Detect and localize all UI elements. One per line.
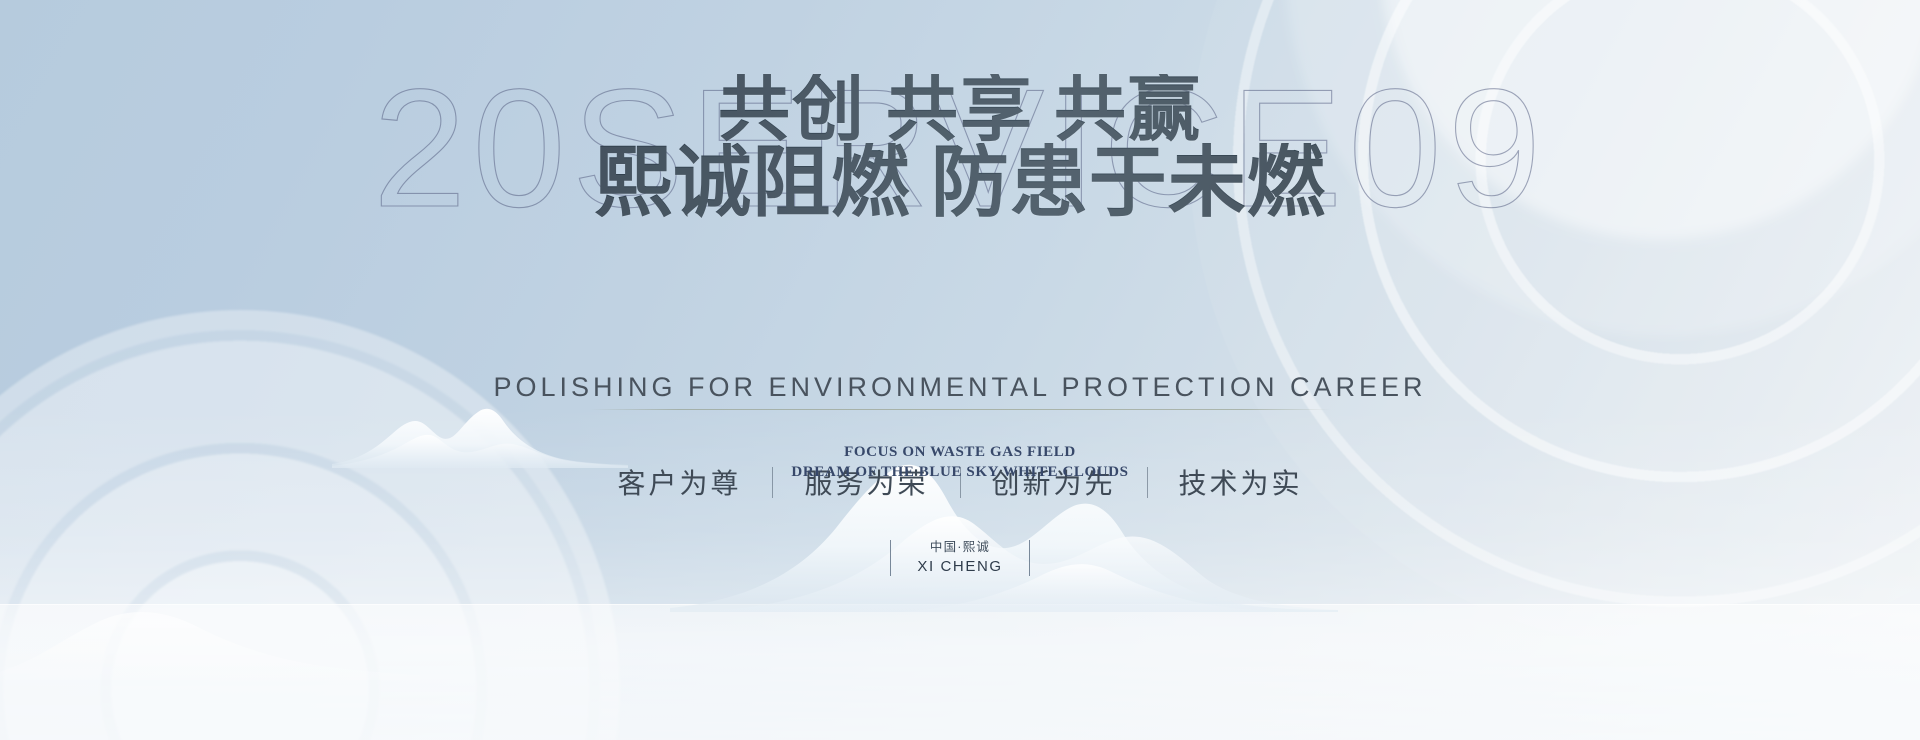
brand-name-en: XI CHENG — [917, 556, 1002, 578]
value-item-4: 技术为实 — [1148, 462, 1334, 502]
brand-divider-right — [1029, 540, 1030, 576]
horizon-band — [0, 605, 1920, 740]
value-list: 客户为尊 服务为荣 创新为先 技术为实 — [0, 462, 1920, 502]
brand-text: 中国·熙诚 XI CHENG — [917, 538, 1002, 578]
value-item-2: 服务为荣 — [773, 462, 959, 502]
tagline-underline — [589, 409, 1331, 410]
value-item-3: 创新为先 — [961, 462, 1147, 502]
headline-block: 共创 共享 共赢 熙诚阻燃 防患于未燃 — [0, 74, 1920, 223]
headline-line-1: 共创 共享 共赢 — [0, 74, 1920, 147]
mountain-silhouette-large-icon — [600, 432, 1340, 612]
value-item-1: 客户为尊 — [586, 462, 772, 502]
tagline-text: POLISHING FOR ENVIRONMENTAL PROTECTION C… — [0, 372, 1920, 403]
mountain-silhouette-small-icon — [330, 398, 630, 468]
brand-divider-left — [890, 540, 891, 576]
couplet-line-1: FOCUS ON WASTE GAS FIELD — [0, 442, 1920, 462]
hero-banner: 20SERVICE09 — [0, 0, 1920, 740]
brand-footer: 中国·熙诚 XI CHENG — [0, 538, 1920, 578]
brand-name-cn: 中国·熙诚 — [917, 538, 1002, 556]
headline-line-2: 熙诚阻燃 防患于未燃 — [0, 143, 1920, 223]
